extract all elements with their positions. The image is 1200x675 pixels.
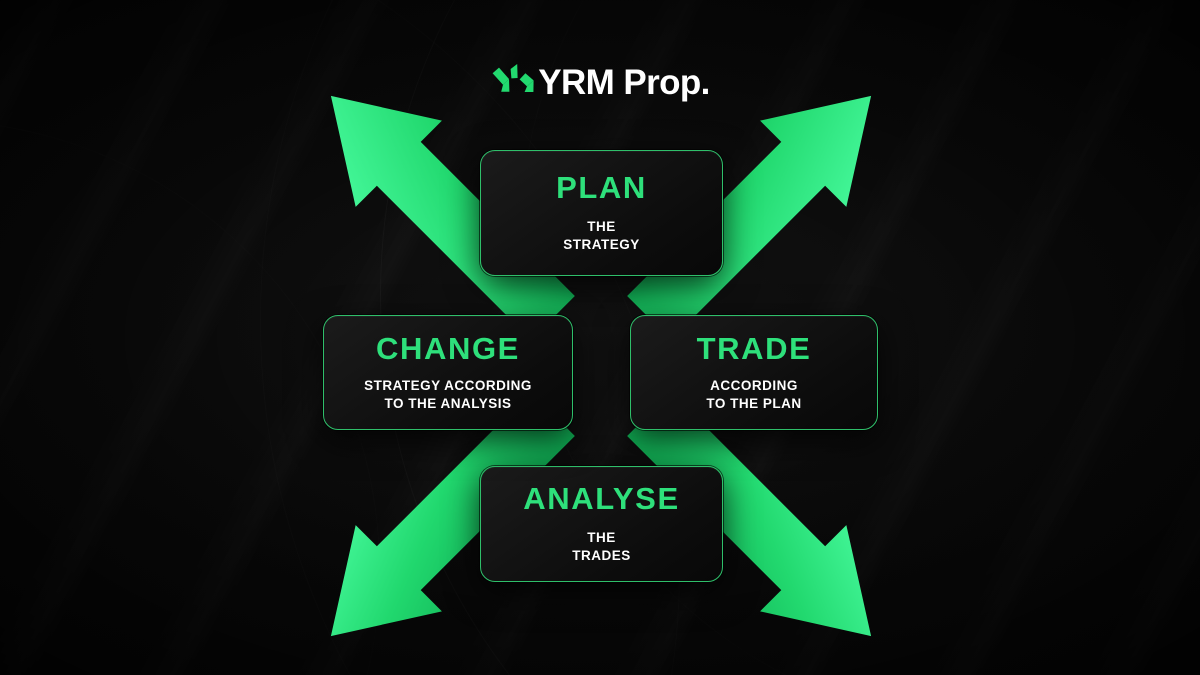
- card-subtitle: THE STRATEGY: [563, 218, 640, 254]
- card-title: ANALYSE: [523, 483, 679, 514]
- slide-canvas: YRM Prop.: [0, 0, 1200, 675]
- card-title: CHANGE: [376, 333, 520, 364]
- card-subtitle: STRATEGY ACCORDING TO THE ANALYSIS: [364, 377, 532, 413]
- cycle-card-analyse[interactable]: ANALYSE THE TRADES: [480, 466, 723, 582]
- card-subtitle: ACCORDING TO THE PLAN: [706, 377, 801, 413]
- brand-logo: YRM Prop.: [0, 63, 1200, 102]
- card-title: PLAN: [556, 172, 647, 203]
- cycle-card-plan[interactable]: PLAN THE STRATEGY: [480, 150, 723, 276]
- card-title: TRADE: [697, 333, 812, 364]
- card-subtitle: THE TRADES: [572, 529, 631, 565]
- cycle-card-trade[interactable]: TRADE ACCORDING TO THE PLAN: [630, 315, 878, 430]
- cycle-card-change[interactable]: CHANGE STRATEGY ACCORDING TO THE ANALYSI…: [323, 315, 573, 430]
- yrm-chevron-mark-icon: [490, 63, 536, 102]
- brand-wordmark: YRM Prop.: [538, 65, 710, 100]
